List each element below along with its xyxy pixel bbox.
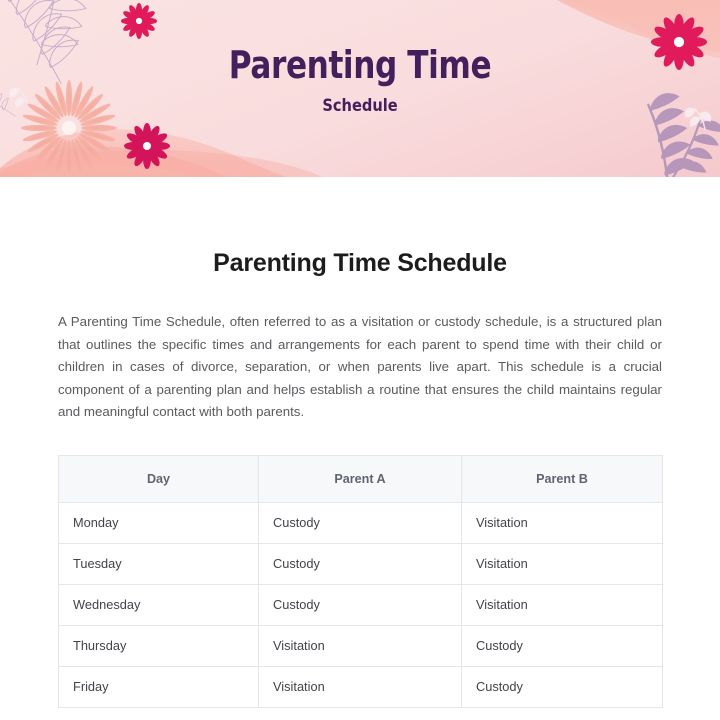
cell-parent-b: Custody (462, 625, 663, 666)
page-title: Parenting Time Schedule (58, 177, 662, 278)
column-header-parent-a: Parent A (259, 455, 462, 502)
cell-parent-a: Custody (259, 543, 462, 584)
table-row: WednesdayCustodyVisitation (59, 584, 663, 625)
flower-magenta-icon-bottom-left (124, 123, 170, 169)
table-header: Day Parent A Parent B (59, 455, 663, 502)
table-row: TuesdayCustodyVisitation (59, 543, 663, 584)
cell-parent-a: Visitation (259, 625, 462, 666)
column-header-day: Day (59, 455, 259, 502)
cell-day: Friday (59, 666, 259, 707)
table-row: FridayVisitationCustody (59, 666, 663, 707)
wave-ellipse-bottom-left (0, 150, 350, 177)
cell-parent-a: Custody (259, 584, 462, 625)
intro-paragraph: A Parenting Time Schedule, often referre… (58, 278, 662, 424)
flower-magenta-icon-top-left (121, 3, 157, 39)
table-row: MondayCustodyVisitation (59, 502, 663, 543)
table-header-row: Day Parent A Parent B (59, 455, 663, 502)
document-page: Parenting Time Schedule Parenting Time S… (0, 0, 720, 720)
document-banner: Parenting Time Schedule (0, 0, 720, 177)
cell-day: Thursday (59, 625, 259, 666)
cell-parent-b: Visitation (462, 584, 663, 625)
cell-parent-a: Custody (259, 502, 462, 543)
document-content: Parenting Time Schedule A Parenting Time… (0, 177, 720, 708)
banner-title-block: Parenting Time Schedule (0, 46, 720, 116)
cell-day: Monday (59, 502, 259, 543)
cell-day: Tuesday (59, 543, 259, 584)
cell-parent-b: Visitation (462, 502, 663, 543)
cell-day: Wednesday (59, 584, 259, 625)
banner-subtitle: Schedule (50, 96, 669, 116)
table-body: MondayCustodyVisitationTuesdayCustodyVis… (59, 502, 663, 707)
cell-parent-b: Visitation (462, 543, 663, 584)
cell-parent-b: Custody (462, 666, 663, 707)
table-row: ThursdayVisitationCustody (59, 625, 663, 666)
wave-shape-bottom-left (0, 129, 320, 177)
parenting-time-table: Day Parent A Parent B MondayCustodyVisit… (58, 455, 663, 708)
cell-parent-a: Visitation (259, 666, 462, 707)
column-header-parent-b: Parent B (462, 455, 663, 502)
banner-title: Parenting Time (65, 46, 655, 86)
